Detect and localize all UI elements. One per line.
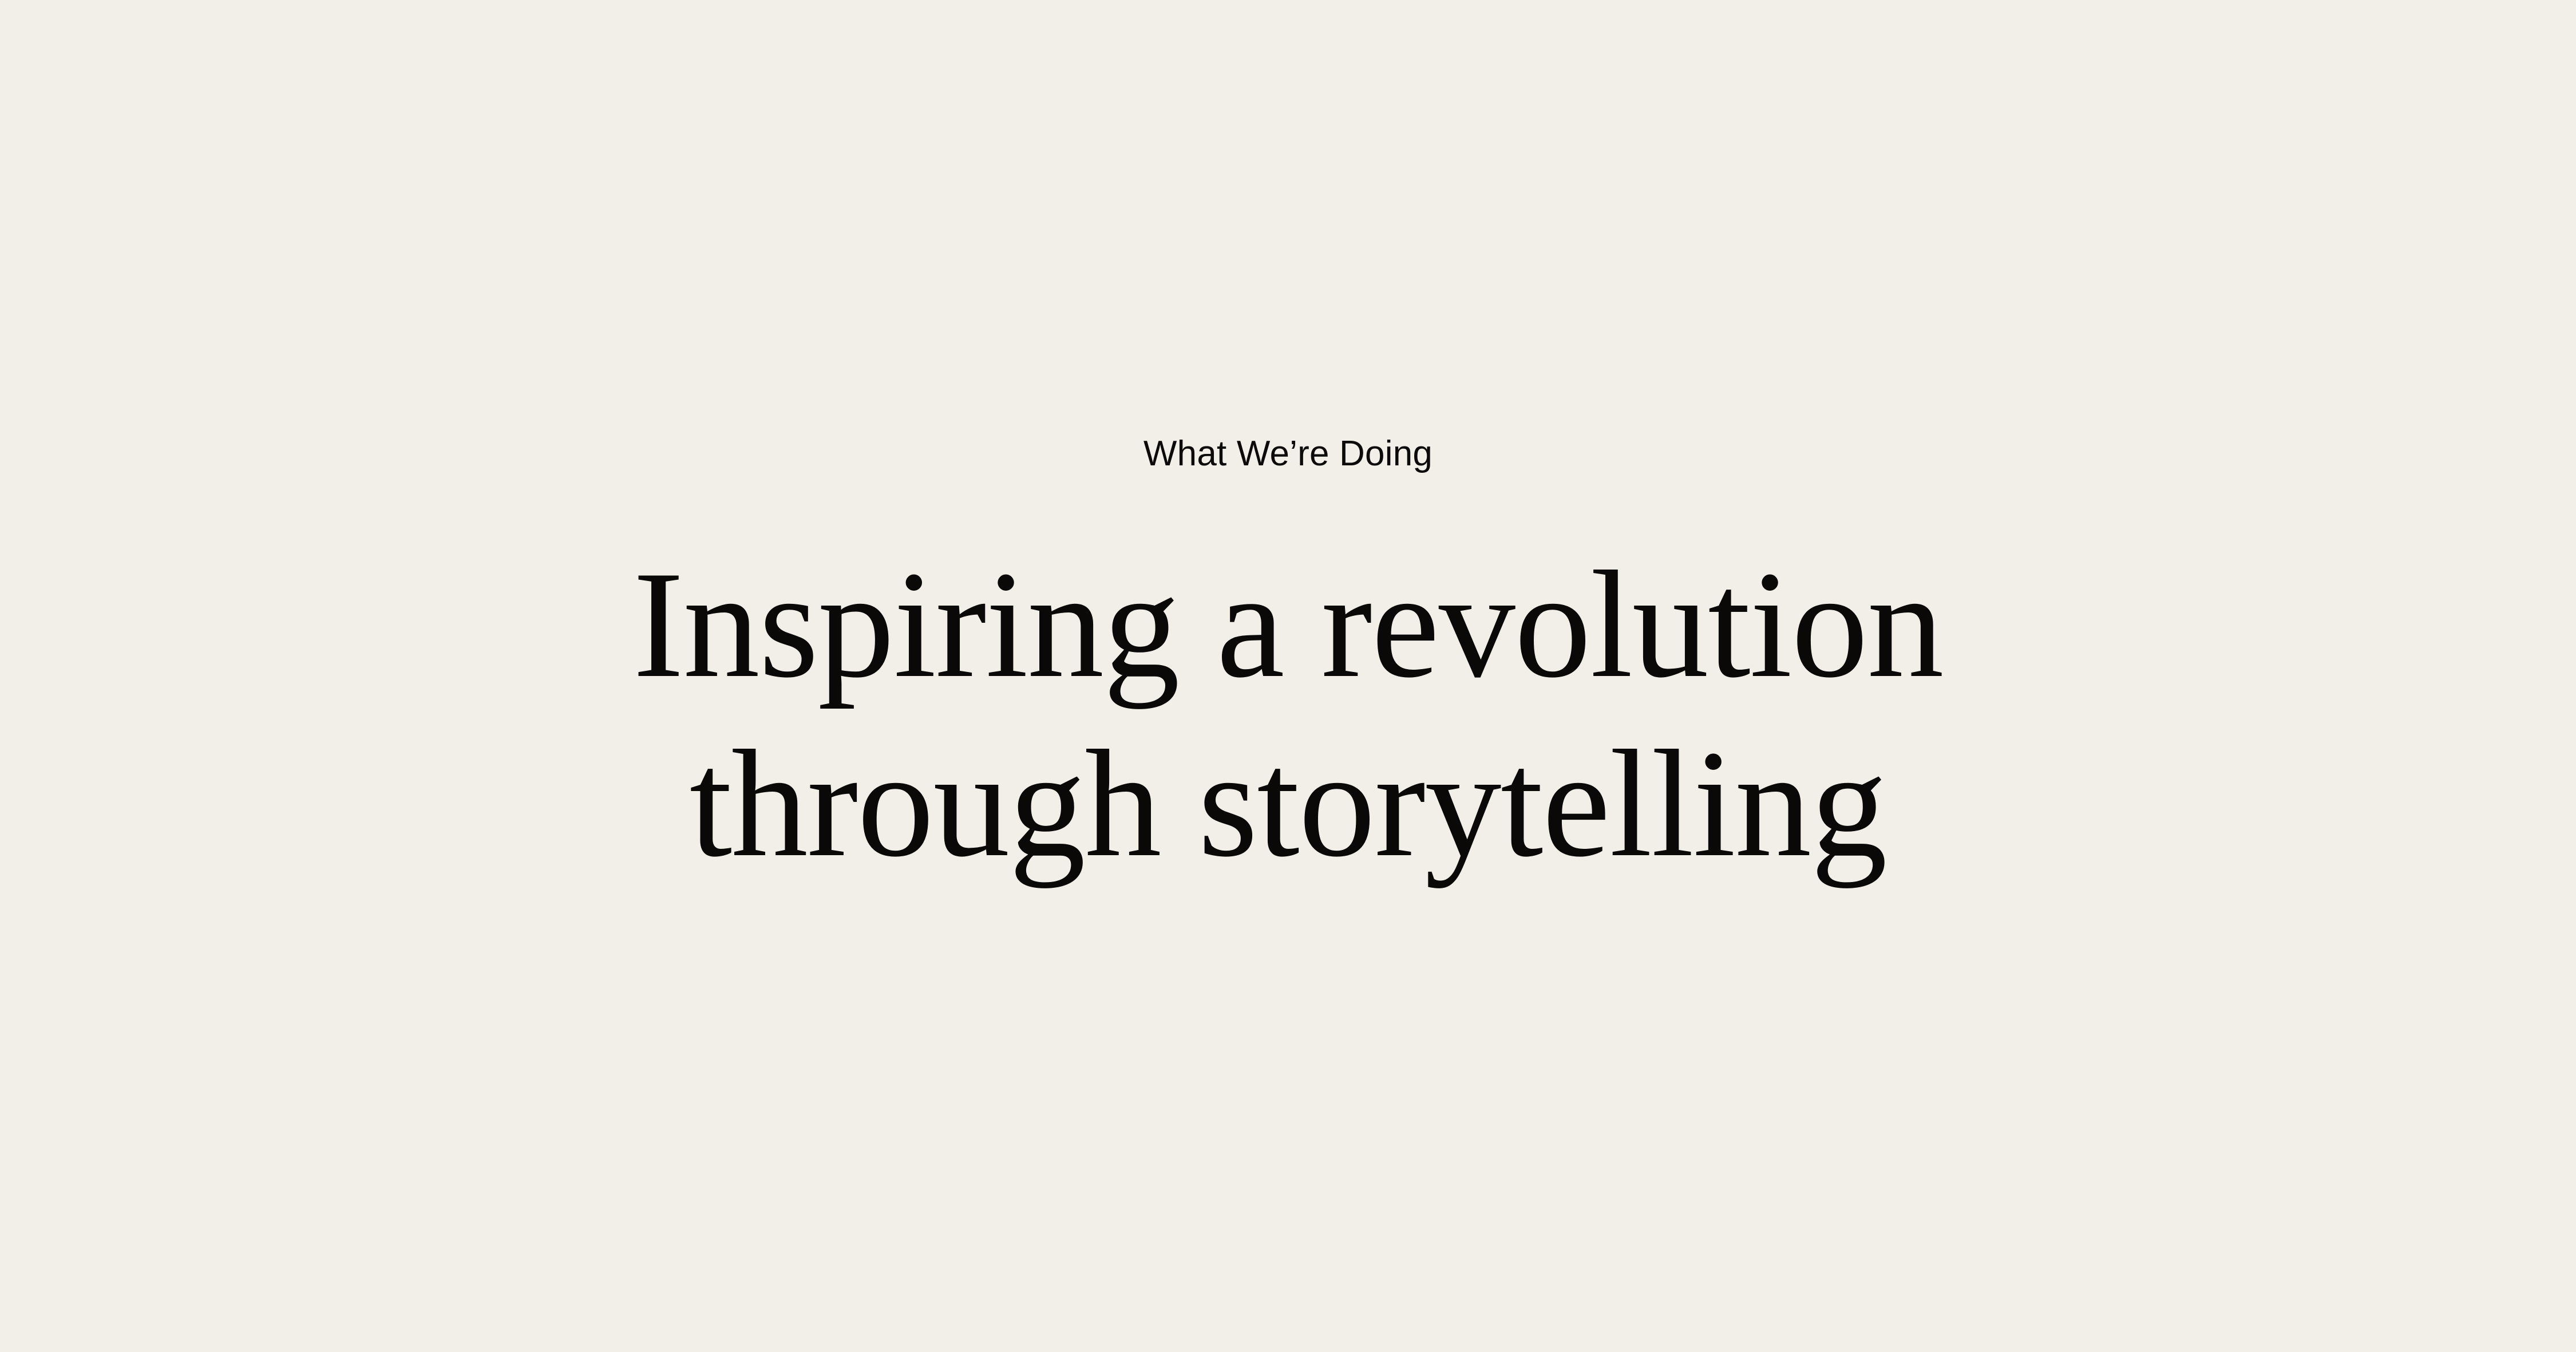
hero-eyebrow: What We’re Doing — [1143, 434, 1433, 473]
hero-content: What We’re Doing Inspiring a revolution … — [258, 434, 2318, 893]
hero-headline-line-1: Inspiring a revolution — [633, 535, 1943, 714]
hero-headline-line-2: through storytelling — [633, 714, 1943, 893]
hero-headline: Inspiring a revolution through storytell… — [633, 535, 1943, 892]
hero-section: What We’re Doing Inspiring a revolution … — [0, 0, 2576, 1352]
